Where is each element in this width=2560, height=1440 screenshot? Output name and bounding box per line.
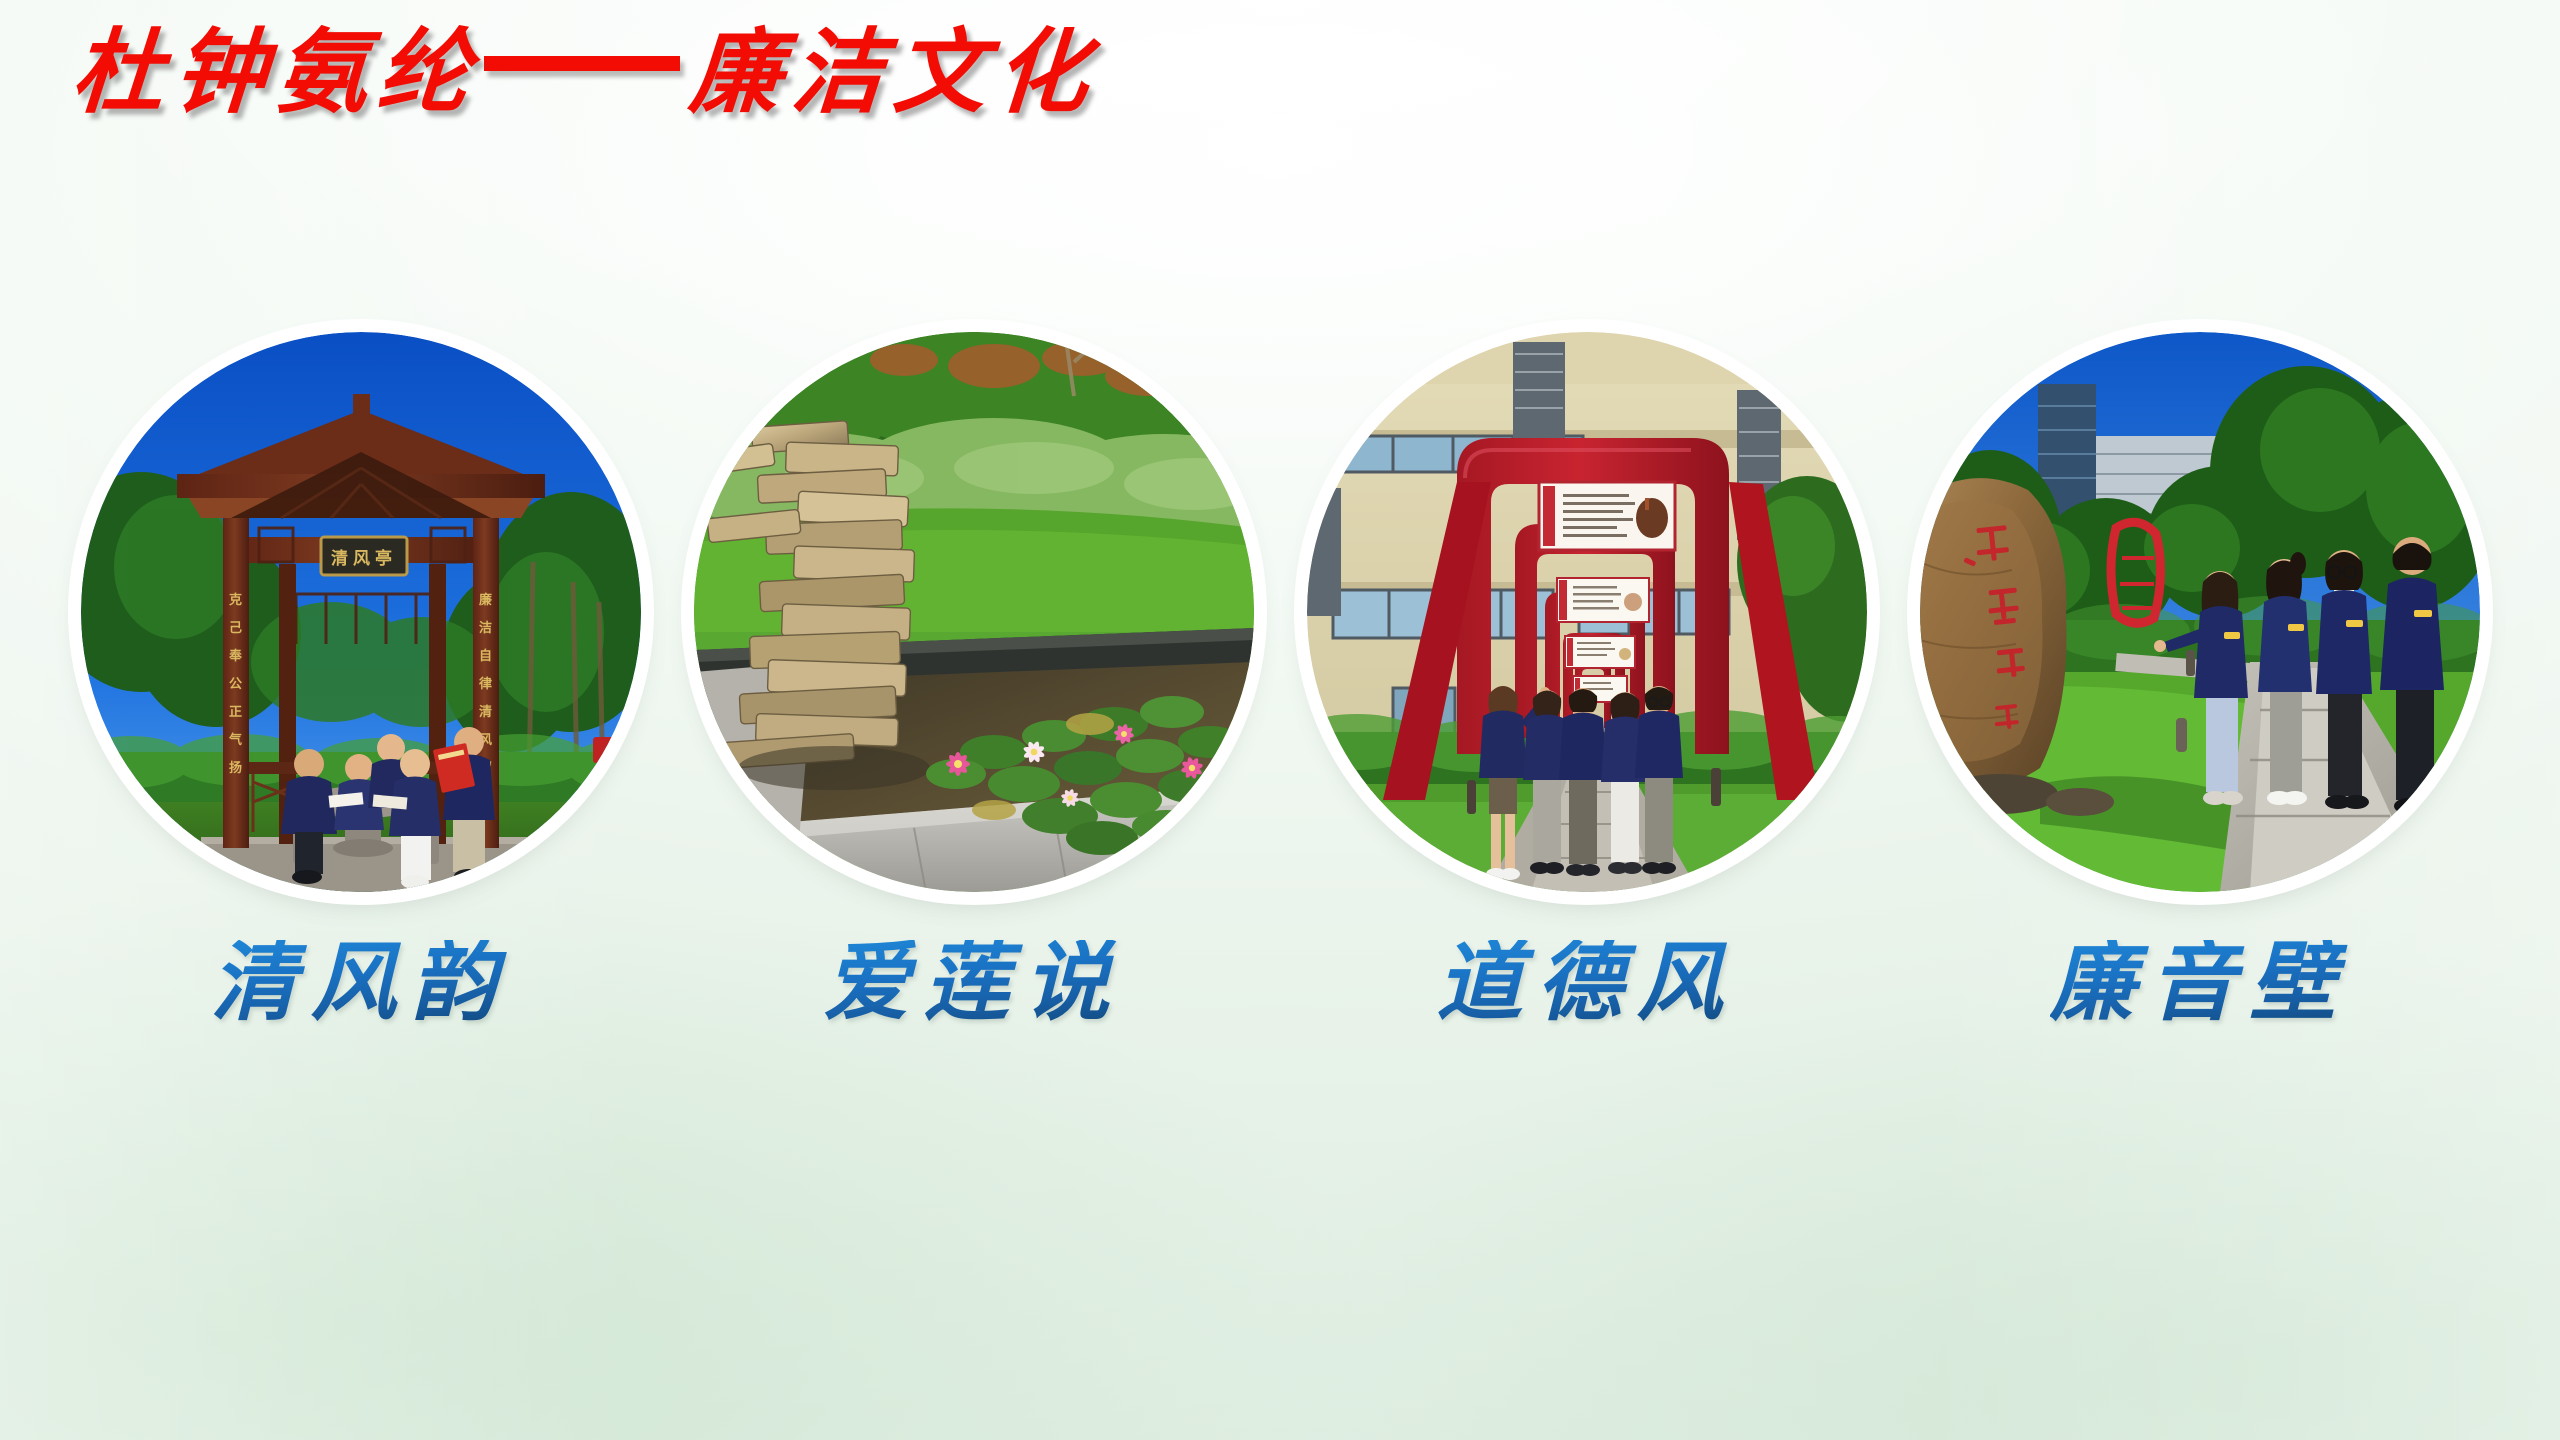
red-arches-photo[interactable] xyxy=(1307,332,1867,892)
svg-text:廉: 廉 xyxy=(479,592,492,608)
svg-text:清: 清 xyxy=(331,548,348,569)
svg-text:公: 公 xyxy=(229,677,242,692)
svg-text:克: 克 xyxy=(229,592,242,608)
svg-text:自: 自 xyxy=(479,648,492,664)
lotus-pond-photo[interactable] xyxy=(694,332,1254,892)
svg-text:己: 己 xyxy=(229,621,242,636)
page-title: 杜钟氨纶 廉洁文化 xyxy=(72,26,1098,118)
photo-card-4[interactable]: 廉音壁 xyxy=(1910,332,2490,1026)
svg-text:清: 清 xyxy=(479,704,492,720)
svg-text:律: 律 xyxy=(479,676,492,692)
svg-text:奉: 奉 xyxy=(228,648,243,664)
slide-canvas: 杜钟氨纶 廉洁文化 xyxy=(0,0,2560,1440)
title-dash-rule xyxy=(484,56,680,71)
photo-card-row: 清风亭 克己奉 公正气扬 廉洁自 律清风留 xyxy=(0,332,2560,932)
photo-caption-3: 道德风 xyxy=(1437,940,1737,1026)
title-right-text: 廉洁文化 xyxy=(687,26,1101,118)
photo-caption-2: 爱莲说 xyxy=(824,940,1124,1026)
photo-card-3[interactable]: 道德风 xyxy=(1297,332,1877,1026)
photo-caption-1: 清风韵 xyxy=(211,940,511,1026)
photo-card-1[interactable]: 清风亭 克己奉 公正气扬 廉洁自 律清风留 xyxy=(71,332,651,1026)
stone-wall-photo[interactable] xyxy=(1920,332,2480,892)
title-left-text: 杜钟氨纶 xyxy=(69,26,483,118)
svg-text:气: 气 xyxy=(229,732,242,748)
svg-text:正: 正 xyxy=(229,705,242,720)
photo-caption-4: 廉音壁 xyxy=(2050,940,2350,1026)
photo-card-2[interactable]: 爱莲说 xyxy=(684,332,1264,1026)
svg-text:亭: 亭 xyxy=(375,548,392,569)
svg-text:风: 风 xyxy=(353,549,370,569)
svg-text:洁: 洁 xyxy=(479,620,492,636)
svg-text:扬: 扬 xyxy=(229,760,242,776)
qingfeng-pavilion-photo[interactable]: 清风亭 克己奉 公正气扬 廉洁自 律清风留 xyxy=(81,332,641,892)
